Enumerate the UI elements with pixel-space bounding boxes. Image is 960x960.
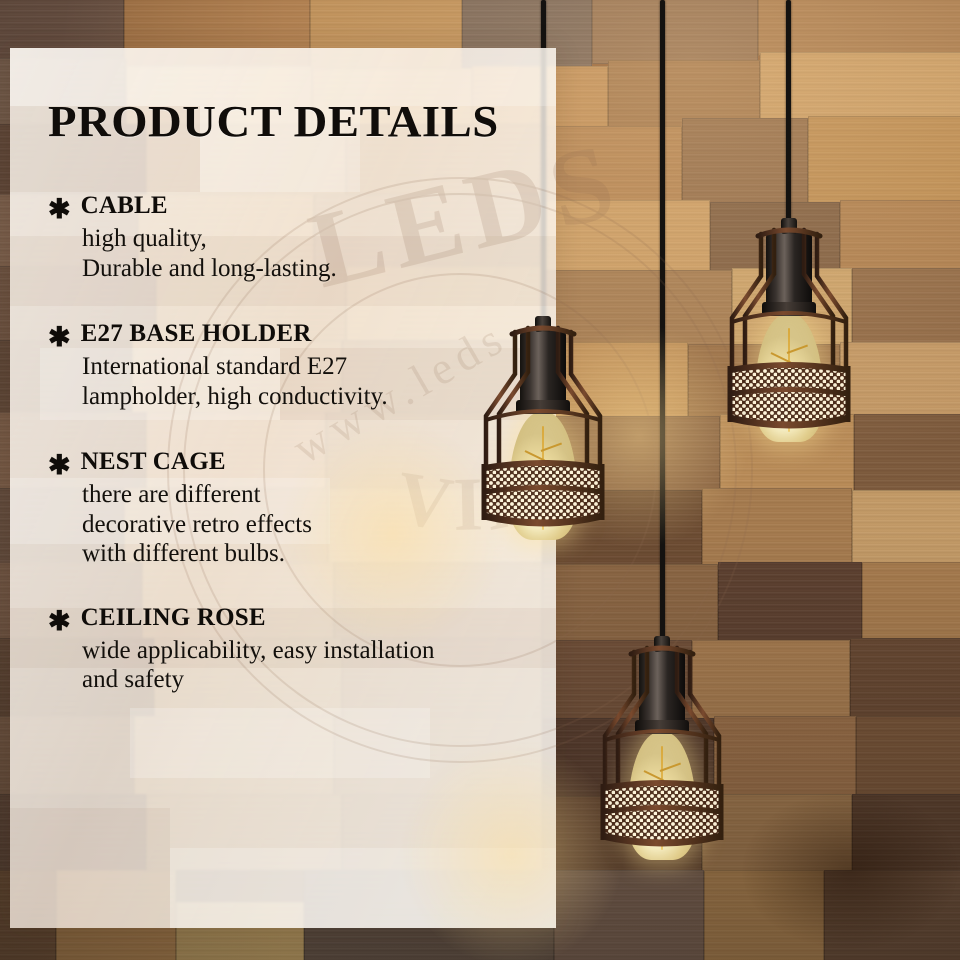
- wood-plank: [852, 794, 960, 876]
- wood-plank: [824, 870, 960, 960]
- page-title: PRODUCT DETAILS: [48, 96, 578, 147]
- feature-description: high quality, Durable and long-lasting.: [82, 224, 548, 283]
- product-detail-image: LEDS www.leds VINTAGE PRODUCT DETAILS ✱ …: [0, 0, 960, 960]
- feature-description: there are different decorative retro eff…: [82, 480, 548, 569]
- wood-plank: [542, 200, 710, 274]
- feature-nest-cage: ✱ NEST CAGE there are different decorati…: [48, 449, 548, 569]
- feature-description: International standard E27 lampholder, h…: [82, 352, 548, 411]
- feature-cable: ✱ CABLE high quality, Durable and long-l…: [48, 193, 548, 283]
- feature-e27-base-holder: ✱ E27 BASE HOLDER International standard…: [48, 321, 548, 411]
- feature-name: E27 BASE HOLDER: [81, 321, 312, 347]
- wood-plank: [856, 716, 960, 800]
- feature-name: NEST CAGE: [81, 449, 226, 475]
- wood-plank: [702, 488, 852, 568]
- details-text-block: PRODUCT DETAILS ✱ CABLE high quality, Du…: [48, 96, 548, 695]
- wood-plank: [554, 870, 704, 960]
- feature-name: CABLE: [81, 193, 168, 219]
- lamp-cord-center: [660, 0, 665, 650]
- feature-heading: ✱ NEST CAGE: [48, 449, 548, 479]
- feature-name: CEILING ROSE: [81, 605, 266, 631]
- feature-description: wide applicability, easy installation an…: [82, 636, 548, 695]
- wood-plank: [862, 562, 960, 644]
- nest-cage: [587, 640, 737, 880]
- wood-plank: [850, 638, 960, 722]
- wood-plank: [852, 490, 960, 568]
- lamp-cord-right: [786, 0, 791, 232]
- asterisk-bullet-icon: ✱: [48, 452, 71, 479]
- feature-ceiling-rose: ✱ CEILING ROSE wide applicability, easy …: [48, 605, 548, 695]
- wood-plank: [592, 0, 758, 64]
- wood-plank: [808, 116, 960, 206]
- feature-heading: ✱ CABLE: [48, 193, 548, 223]
- wood-plank: [718, 562, 862, 644]
- asterisk-bullet-icon: ✱: [48, 324, 71, 351]
- asterisk-bullet-icon: ✱: [48, 608, 71, 635]
- nest-cage: [714, 222, 864, 462]
- wood-plank: [704, 870, 824, 960]
- asterisk-bullet-icon: ✱: [48, 196, 71, 223]
- wood-plank: [852, 268, 960, 346]
- wood-plank: [854, 414, 960, 494]
- feature-heading: ✱ CEILING ROSE: [48, 605, 548, 635]
- wood-plank: [542, 564, 718, 644]
- feature-heading: ✱ E27 BASE HOLDER: [48, 321, 548, 351]
